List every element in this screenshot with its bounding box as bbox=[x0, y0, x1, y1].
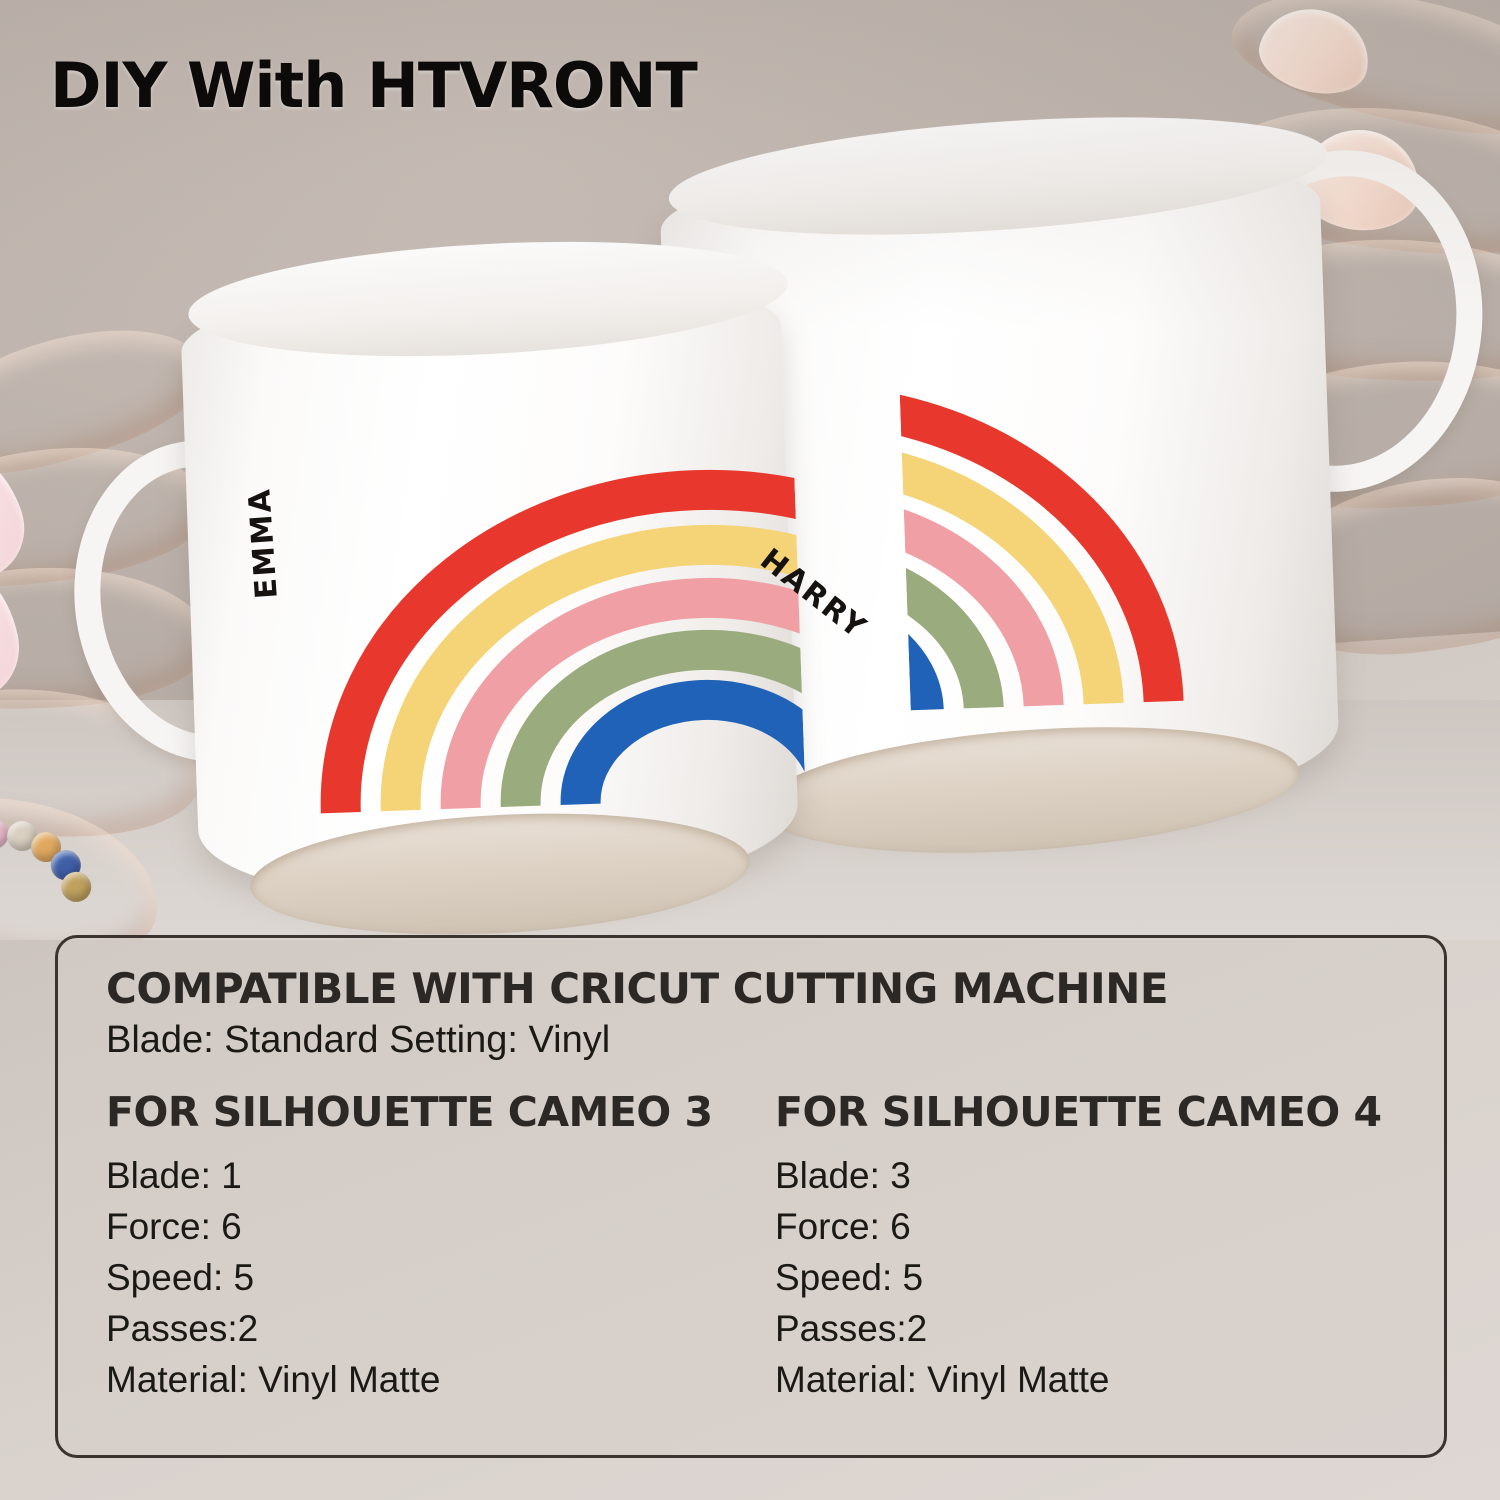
compatibility-heading: COMPATIBLE WITH CRICUT CUTTING MACHINE bbox=[106, 964, 1444, 1013]
cameo-3-passes: Passes:2 bbox=[106, 1303, 775, 1354]
cameo-3-heading: FOR SILHOUETTE CAMEO 3 bbox=[106, 1088, 775, 1136]
machine-settings-columns: FOR SILHOUETTE CAMEO 3 Blade: 1 Force: 6… bbox=[106, 1088, 1444, 1405]
cameo-4-heading: FOR SILHOUETTE CAMEO 4 bbox=[775, 1088, 1444, 1136]
cameo-3-material: Material: Vinyl Matte bbox=[106, 1354, 775, 1405]
cameo-4-material: Material: Vinyl Matte bbox=[775, 1354, 1444, 1405]
cameo-4-speed: Speed: 5 bbox=[775, 1252, 1444, 1303]
product-listing-image: EMMA HARRY DIY With HTVRONT COMPATIBLE W… bbox=[0, 0, 1500, 1500]
cameo-3-force: Force: 6 bbox=[106, 1201, 775, 1252]
compatibility-settings-line: Blade: Standard Setting: Vinyl bbox=[106, 1019, 1444, 1062]
cameo-3-speed: Speed: 5 bbox=[106, 1252, 775, 1303]
page-title: DIY With HTVRONT bbox=[50, 55, 697, 117]
rainbow-artwork bbox=[0, 0, 1500, 940]
cameo-4-blade: Blade: 3 bbox=[775, 1150, 1444, 1201]
cameo-4-force: Force: 6 bbox=[775, 1201, 1444, 1252]
product-photo: EMMA HARRY bbox=[0, 0, 1500, 940]
compatibility-info-panel: COMPATIBLE WITH CRICUT CUTTING MACHINE B… bbox=[55, 935, 1447, 1458]
cameo-3-blade: Blade: 1 bbox=[106, 1150, 775, 1201]
cameo-3-column: FOR SILHOUETTE CAMEO 3 Blade: 1 Force: 6… bbox=[106, 1088, 775, 1405]
cameo-4-column: FOR SILHOUETTE CAMEO 4 Blade: 3 Force: 6… bbox=[775, 1088, 1444, 1405]
cameo-4-passes: Passes:2 bbox=[775, 1303, 1444, 1354]
